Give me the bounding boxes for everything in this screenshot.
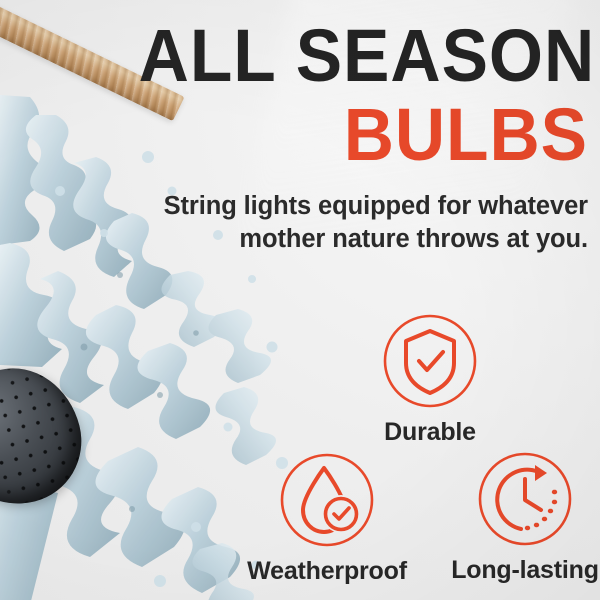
promo-banner: ALL SEASON BULBS String lights equipped … — [0, 0, 600, 600]
background-vignette — [0, 0, 600, 600]
